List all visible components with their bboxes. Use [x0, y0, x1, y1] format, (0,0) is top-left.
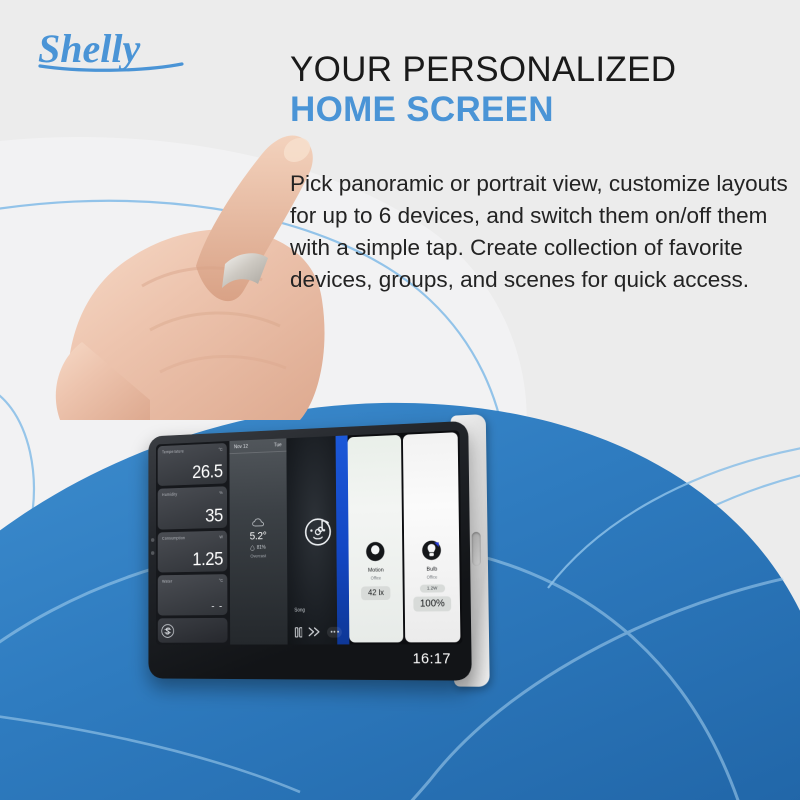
more-dots-icon[interactable]	[327, 626, 342, 637]
sensor-value: - -	[162, 602, 223, 613]
weather-temperature: 5.2°	[250, 530, 267, 542]
device-card-room: Office	[371, 575, 381, 580]
device-status-bar: 16:17	[156, 644, 463, 672]
device-card-primary-value[interactable]: 100%	[413, 596, 451, 611]
sensor-value: 26.5	[162, 463, 223, 483]
headline-block: YOUR PERSONALIZED HOME SCREEN	[290, 50, 780, 132]
device-card-bulb[interactable]: Bulb Office 1.2W 100%	[403, 432, 460, 642]
sensor-tile-header: Water °C	[162, 578, 223, 584]
sensor-label: Temperature	[162, 449, 184, 455]
sensor-label: Humidity	[162, 492, 177, 497]
weather-date: Nov 12	[234, 444, 248, 450]
droplet-icon	[251, 545, 255, 551]
device-side-dots-icon	[151, 538, 154, 555]
pause-icon[interactable]	[294, 627, 302, 638]
device-side-button[interactable]	[472, 532, 481, 566]
motion-sensor-icon	[365, 540, 387, 563]
weather-body: 5.2° 81% Overcast	[230, 452, 288, 645]
device-screen[interactable]: Temperature °C 26.5 Humidity % 35	[156, 430, 462, 644]
device-card-room: Office	[427, 574, 438, 579]
sensor-label: Water	[162, 579, 172, 584]
cloud-icon	[252, 517, 265, 528]
device-brand-badge[interactable]	[158, 618, 228, 643]
sensor-value: 35	[162, 507, 223, 527]
sensor-tile-header: Humidity %	[162, 490, 223, 497]
device-card-name: Motion	[368, 567, 384, 573]
weather-humidity-value: 81%	[257, 545, 266, 551]
device-card-motion[interactable]: Motion Office 42 lx	[348, 435, 403, 643]
media-track-title: Song	[294, 608, 305, 614]
weather-day: Tue	[274, 442, 282, 448]
bulb-icon	[420, 539, 442, 562]
media-controls[interactable]	[287, 619, 350, 645]
shelly-s-icon	[161, 623, 174, 637]
device-stage: Temperature °C 26.5 Humidity % 35	[0, 380, 800, 800]
sensor-tile-consumption[interactable]: Consumption W 1.25	[158, 530, 228, 572]
sensor-unit: °C	[218, 447, 222, 452]
media-panel[interactable]: Song	[286, 435, 350, 644]
device-card-primary-value[interactable]: 42 lx	[361, 586, 390, 600]
weather-panel[interactable]: Nov 12 Tue 5.2° 81%	[230, 438, 288, 644]
clock-display: 16:17	[412, 650, 451, 667]
device-card-secondary-value: 1.2W	[419, 584, 444, 592]
sensor-tile-humidity[interactable]: Humidity % 35	[158, 486, 228, 529]
headline-line-1: YOUR PERSONALIZED	[290, 50, 780, 89]
sensor-tile-header: Temperature °C	[162, 447, 223, 454]
shelly-logo-text: Shelly	[38, 26, 140, 71]
device-bezel: Temperature °C 26.5 Humidity % 35	[148, 421, 471, 681]
sensor-value: 1.25	[162, 550, 223, 569]
fast-forward-icon[interactable]	[309, 627, 321, 637]
music-disc-icon	[299, 512, 336, 552]
shelly-logo-icon: Shelly	[30, 20, 200, 78]
sensor-tile-water[interactable]: Water °C - -	[158, 574, 228, 616]
sensor-tile-header: Consumption W	[162, 534, 223, 540]
media-accent-strip	[336, 435, 350, 644]
headline-line-2: HOME SCREEN	[290, 89, 780, 132]
device-card-name: Bulb	[426, 566, 437, 572]
weather-humidity-row: 81%	[251, 545, 266, 551]
sensor-tile-temperature[interactable]: Temperature °C 26.5	[158, 443, 227, 486]
sensor-label: Consumption	[162, 535, 185, 540]
weather-condition: Overcast	[250, 553, 266, 558]
wall-display-device[interactable]: Temperature °C 26.5 Humidity % 35	[148, 421, 471, 681]
body-paragraph: Pick panoramic or portrait view, customi…	[290, 168, 790, 296]
sensor-unit: %	[219, 490, 222, 495]
shelly-logo: Shelly	[30, 20, 200, 78]
sensor-unit: °C	[219, 578, 223, 583]
body-paragraph-text: Pick panoramic or portrait view, customi…	[290, 168, 790, 296]
sensor-column: Temperature °C 26.5 Humidity % 35	[156, 441, 230, 645]
sensor-unit: W	[219, 534, 222, 539]
